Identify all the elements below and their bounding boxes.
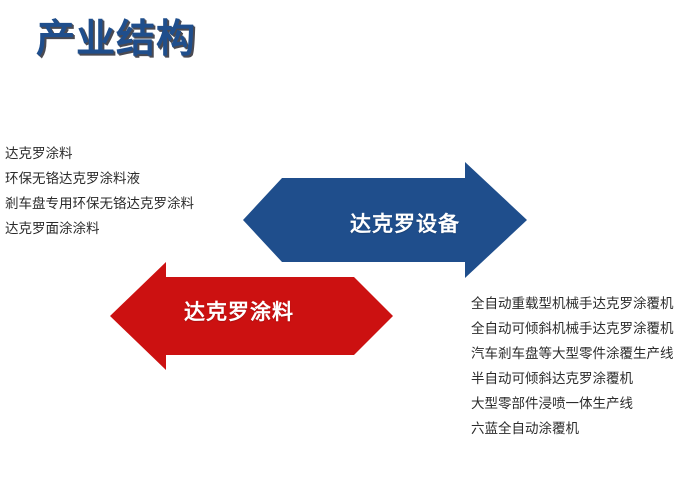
page-title: 产业结构 bbox=[36, 18, 196, 63]
list-item: 六蓝全自动涂覆机 bbox=[471, 417, 674, 442]
list-item: 大型零部件浸喷一体生产线 bbox=[471, 392, 674, 417]
list-item: 全自动可倾斜机械手达克罗涂覆机 bbox=[471, 317, 674, 342]
list-item: 达克罗面涂涂料 bbox=[5, 217, 194, 242]
list-item: 全自动重载型机械手达克罗涂覆机 bbox=[471, 292, 674, 317]
arrow-left-label: 达克罗涂料 bbox=[184, 296, 294, 326]
right-text-list: 全自动重载型机械手达克罗涂覆机 全自动可倾斜机械手达克罗涂覆机 汽车剎车盘等大型… bbox=[471, 292, 674, 442]
list-item: 汽车剎车盘等大型零件涂覆生产线 bbox=[471, 342, 674, 367]
arrow-right-label: 达克罗设备 bbox=[350, 208, 460, 238]
list-item: 半自动可倾斜达克罗涂覆机 bbox=[471, 367, 674, 392]
left-text-list: 达克罗涂料 环保无铬达克罗涂料液 剎车盘专用环保无铬达克罗涂料 达克罗面涂涂料 bbox=[5, 142, 194, 242]
list-item: 环保无铬达克罗涂料液 bbox=[5, 167, 194, 192]
list-item: 剎车盘专用环保无铬达克罗涂料 bbox=[5, 192, 194, 217]
slide-canvas: 产业结构 达克罗涂料 环保无铬达克罗涂料液 剎车盘专用环保无铬达克罗涂料 达克罗… bbox=[0, 0, 700, 501]
arrow-left-coating: 达克罗涂料 bbox=[106, 260, 396, 372]
list-item: 达克罗涂料 bbox=[5, 142, 194, 167]
